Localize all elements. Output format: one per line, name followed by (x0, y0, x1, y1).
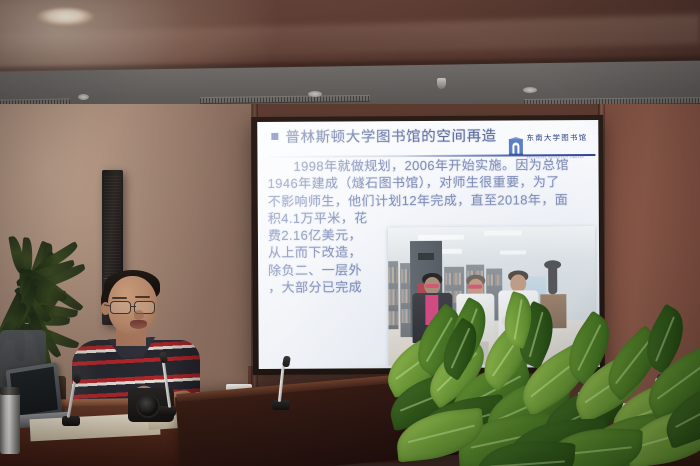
slide-body-line: 积4.1万平米，花 (268, 208, 598, 227)
photo-person-glasses (425, 284, 439, 288)
microphone-base (158, 406, 176, 416)
slide-body-line: 不影响师生，他们计划12年完成，直至2018年，面 (268, 191, 598, 210)
logo-text: 东南大学图书馆 (526, 133, 587, 142)
photo-sculpture (544, 260, 561, 269)
glasses-lens (110, 301, 131, 314)
presenter-mouth-speaking (130, 320, 147, 329)
slide-title: 普林斯顿大学图书馆的空间再造 (285, 125, 497, 147)
ceiling-speaker-grille-icon (523, 87, 537, 93)
recessed-downlight-icon (36, 8, 94, 26)
camera-lens-icon (136, 394, 160, 418)
bullet-square-icon (271, 133, 278, 140)
photo-sign (418, 253, 434, 260)
presenter-glasses-icon (104, 301, 160, 315)
microphone-base (62, 416, 80, 426)
photo-ceiling-light (484, 230, 522, 235)
conference-room-photo: 普林斯顿大学图书馆的空间再造 东南大学图书馆 SOUTHEAST UNIVERS… (0, 0, 700, 466)
photo-ceiling-light (418, 235, 464, 240)
ceiling-speaker-grille-icon (78, 94, 89, 100)
slide-body-line: 1998年就做规划，2006年开始实施。因为总馆 (267, 156, 597, 175)
slide-body-line: 1946年建成（燧石图书馆），对师生很重要，为了 (268, 173, 598, 192)
library-gate-logo-icon (508, 136, 523, 155)
foliage-plant-foreground (388, 300, 700, 466)
slide-header: 普林斯顿大学图书馆的空间再造 东南大学图书馆 SOUTHEAST UNIVERS… (257, 124, 598, 156)
vacuum-flask-cap (0, 387, 20, 395)
ceiling-speaker-grille-icon (308, 91, 322, 97)
fire-sprinkler-icon (437, 78, 446, 89)
photo-ceiling-light (500, 250, 526, 254)
presenter-eyebrow (135, 296, 150, 298)
glasses-bridge (131, 306, 136, 307)
microphone-base (272, 400, 290, 410)
glasses-temple (104, 304, 111, 307)
photo-books (388, 267, 398, 283)
presenter-eyebrow (112, 297, 127, 299)
photo-person-glasses (468, 285, 482, 289)
vacuum-flask (0, 392, 20, 454)
